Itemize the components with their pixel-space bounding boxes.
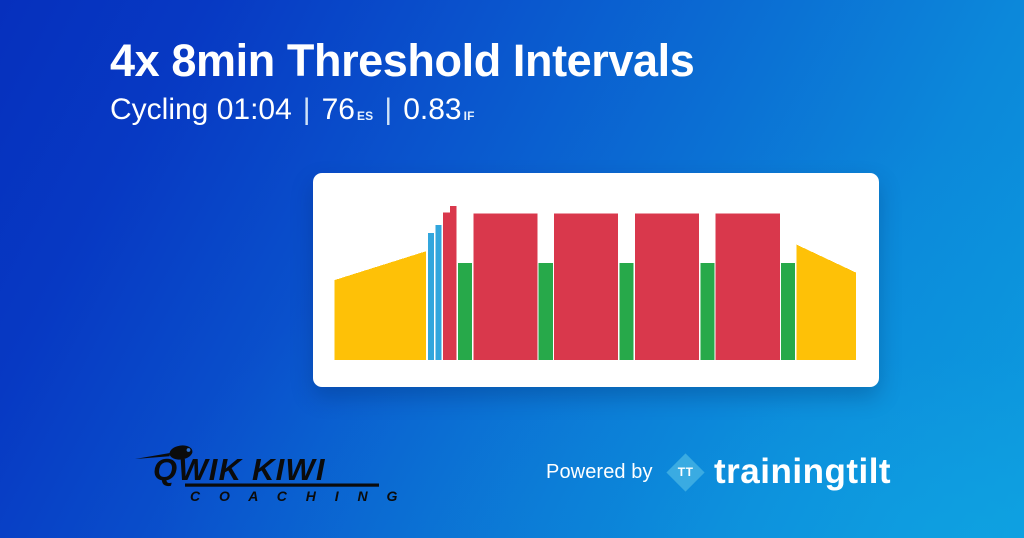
powered-by-label: Powered by [546, 461, 653, 484]
workout-summary: Cycling 01:04 | 76 ES | 0.83 IF [110, 93, 694, 126]
workout-profile-chart [313, 187, 879, 360]
training-stress-value: 76 [322, 93, 355, 126]
footer: QWIK KIWI C O A C H I N G Powered by TT … [0, 434, 1024, 504]
chart-segment-warmup-red-step-1 [443, 213, 450, 360]
duration-value: 01:04 [217, 93, 292, 126]
trainingtilt-diamond-icon: TT [667, 453, 705, 491]
chart-segment-warmup-ramp [335, 251, 427, 360]
chart-svg [313, 187, 879, 360]
powered-by-block[interactable]: Powered by TT trainingtilt [546, 450, 946, 494]
page-title: 4x 8min Threshold Intervals [110, 36, 694, 86]
summary-separator-2: | [373, 93, 403, 126]
chart-segment-warmup-blue-1 [428, 233, 434, 360]
chart-segment-interval-4 [716, 213, 780, 360]
svg-text:QWIK KIWI: QWIK KIWI [153, 452, 326, 487]
logo-rule-top [185, 484, 379, 487]
share-card-canvas: 4x 8min Threshold Intervals Cycling 01:0… [0, 0, 1024, 538]
chart-segment-cooldown-ramp [797, 245, 857, 360]
summary-separator-1: | [292, 93, 322, 126]
chart-segment-recovery-4 [700, 263, 714, 360]
chart-segment-interval-3 [635, 213, 699, 360]
coach-logo-subtitle-text: C O A C H I N G [190, 488, 405, 504]
chart-segment-recovery-3 [620, 263, 634, 360]
chart-segment-warmup-blue-2 [435, 225, 441, 360]
header: 4x 8min Threshold Intervals Cycling 01:0… [110, 36, 694, 126]
coach-logo-wordmark: QWIK KIWI [153, 452, 326, 487]
chart-segment-recovery-1 [458, 263, 472, 360]
chart-segment-warmup-red-step-2 [450, 206, 457, 360]
training-stress-unit: ES [357, 110, 373, 123]
trainingtilt-wordmark: trainingtilt [714, 451, 946, 493]
trainingtilt-wordmark-svg: trainingtilt [714, 451, 946, 493]
diamond-initials: TT [667, 453, 705, 491]
chart-segment-interval-1 [473, 213, 537, 360]
intensity-factor-value: 0.83 [403, 93, 461, 126]
svg-text:trainingtilt: trainingtilt [714, 452, 891, 491]
qwik-kiwi-logo-svg: QWIK KIWI C O A C H I N G [133, 442, 405, 504]
chart-segment-interval-2 [554, 213, 618, 360]
coach-logo[interactable]: QWIK KIWI C O A C H I N G [133, 442, 405, 504]
chart-segment-recovery-5 [781, 263, 795, 360]
workout-chart-card [313, 173, 879, 387]
sport-label: Cycling [110, 93, 208, 126]
intensity-factor-unit: IF [464, 110, 475, 123]
chart-segment-recovery-2 [539, 263, 553, 360]
